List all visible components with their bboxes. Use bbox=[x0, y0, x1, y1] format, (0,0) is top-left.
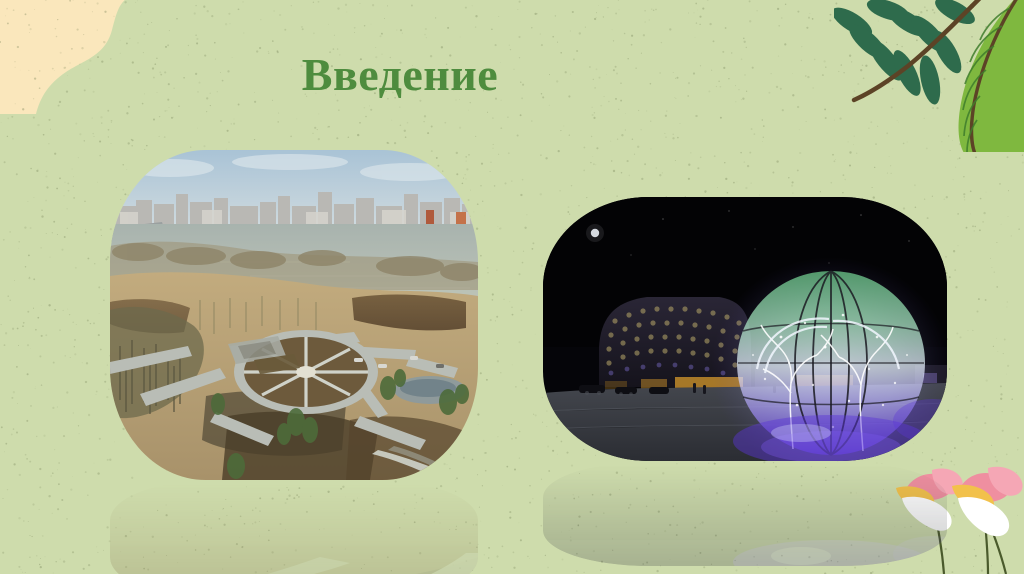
photo-park-aerial-reflection bbox=[110, 481, 478, 574]
foliage-decoration-top-right bbox=[834, 0, 1024, 152]
slide: Введение bbox=[0, 0, 1024, 574]
photo-illuminated-dome-reflection bbox=[543, 462, 947, 566]
page-title: Введение bbox=[0, 50, 800, 101]
photo-illuminated-dome-wrapper[interactable] bbox=[543, 197, 947, 461]
lily-flower-left bbox=[896, 468, 963, 530]
lily-flower-right bbox=[952, 467, 1023, 536]
photo-park-aerial-wrapper[interactable] bbox=[110, 150, 478, 480]
lily-flowers-decoration bbox=[888, 464, 1024, 574]
fern-frond-icon bbox=[834, 0, 982, 106]
photo-illuminated-dome[interactable] bbox=[543, 197, 947, 461]
photo-park-aerial[interactable] bbox=[110, 150, 478, 480]
